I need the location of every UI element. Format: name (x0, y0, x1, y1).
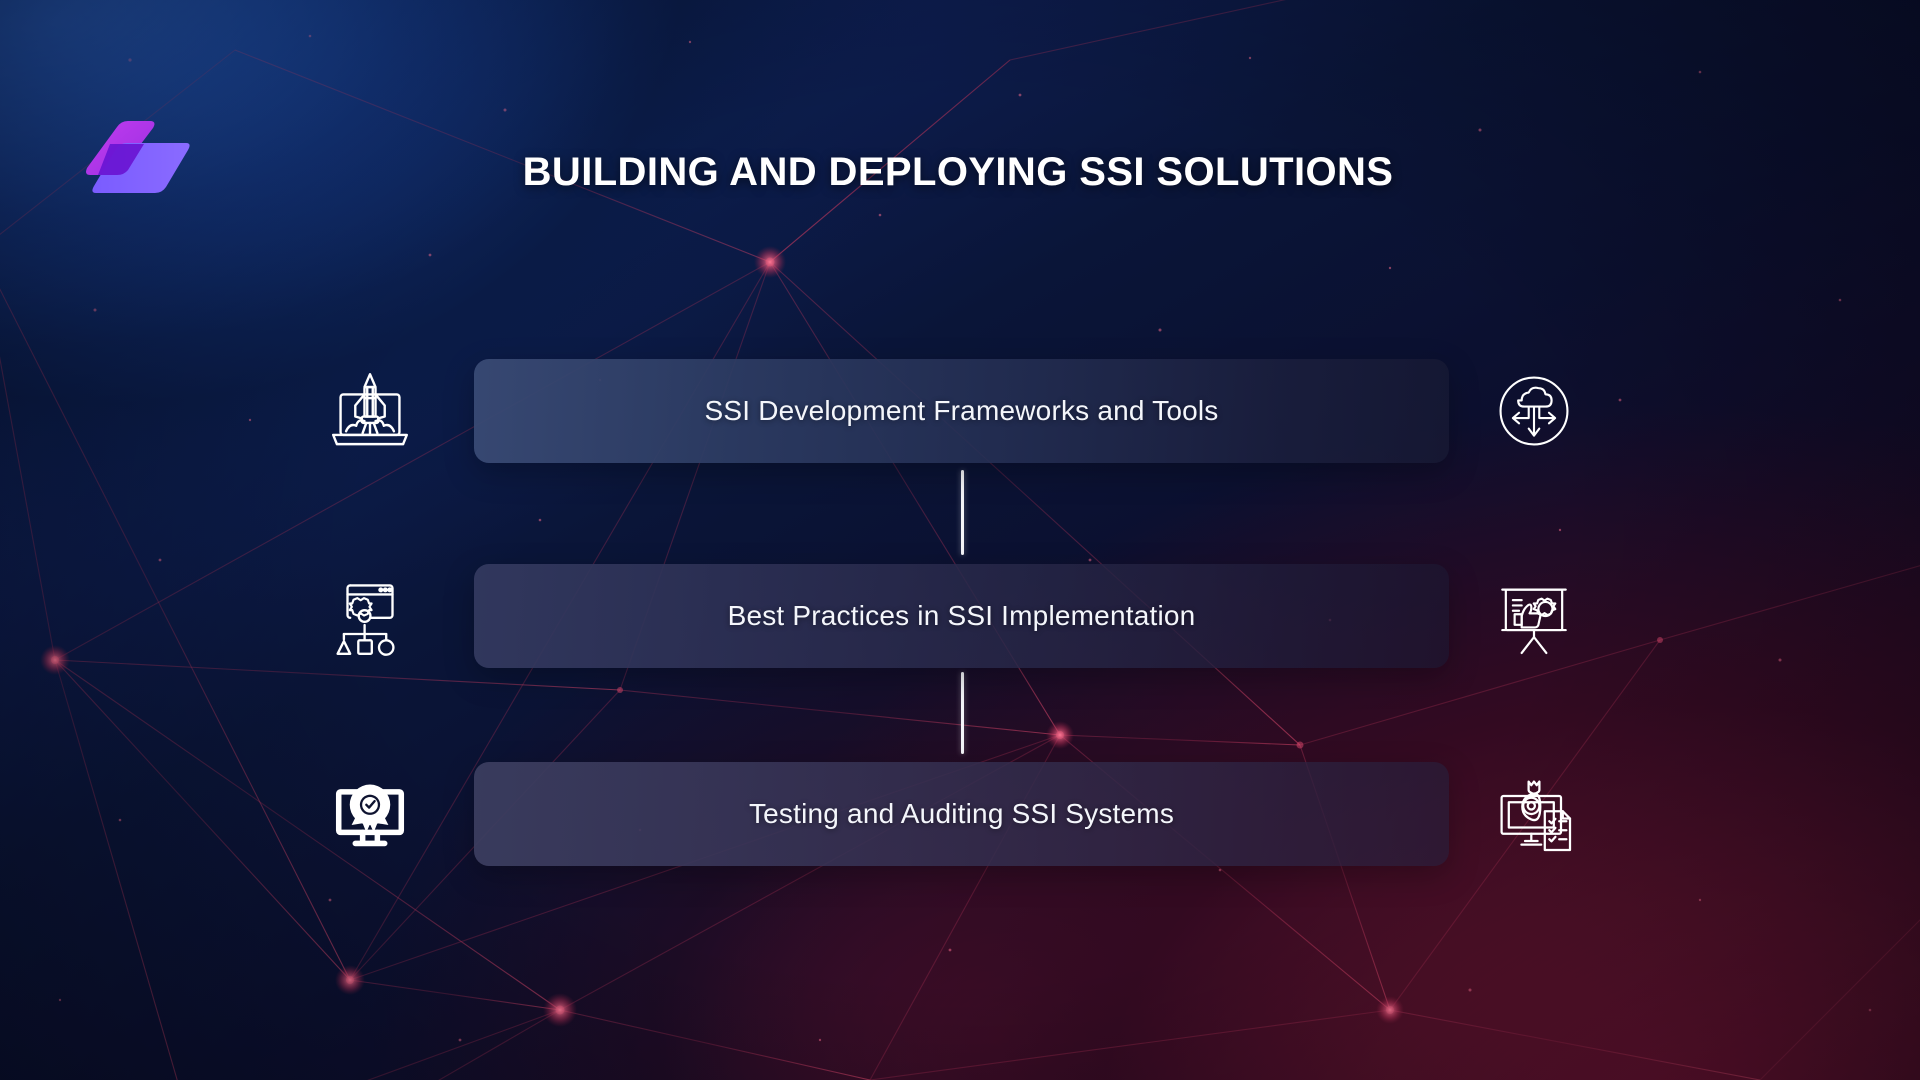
topic-card[interactable]: Best Practices in SSI Implementation (474, 564, 1449, 668)
monitor-gear-checklist-icon (1482, 762, 1586, 866)
monitor-certificate-badge-icon (318, 762, 422, 866)
presentation-thumbsup-gear-icon (1482, 564, 1586, 668)
content-row: SSI Development Frameworks and Tools (0, 359, 1920, 463)
content-rows: SSI Development Frameworks and Tools (0, 0, 1920, 1080)
slide-canvas: BUILDING AND DEPLOYING SSI SOLUTIONS (0, 0, 1920, 1080)
content-row: Best Practices in SSI Implementation (0, 564, 1920, 668)
topic-card[interactable]: Testing and Auditing SSI Systems (474, 762, 1449, 866)
browser-gear-workflow-icon (318, 564, 422, 668)
topic-card-label: SSI Development Frameworks and Tools (704, 395, 1218, 427)
content-row: Testing and Auditing SSI Systems (0, 762, 1920, 866)
topic-card-label: Testing and Auditing SSI Systems (749, 798, 1174, 830)
laptop-rocket-pencil-icon (318, 359, 422, 463)
cloud-distribution-circle-icon (1482, 359, 1586, 463)
topic-card[interactable]: SSI Development Frameworks and Tools (474, 359, 1449, 463)
topic-card-label: Best Practices in SSI Implementation (728, 600, 1196, 632)
